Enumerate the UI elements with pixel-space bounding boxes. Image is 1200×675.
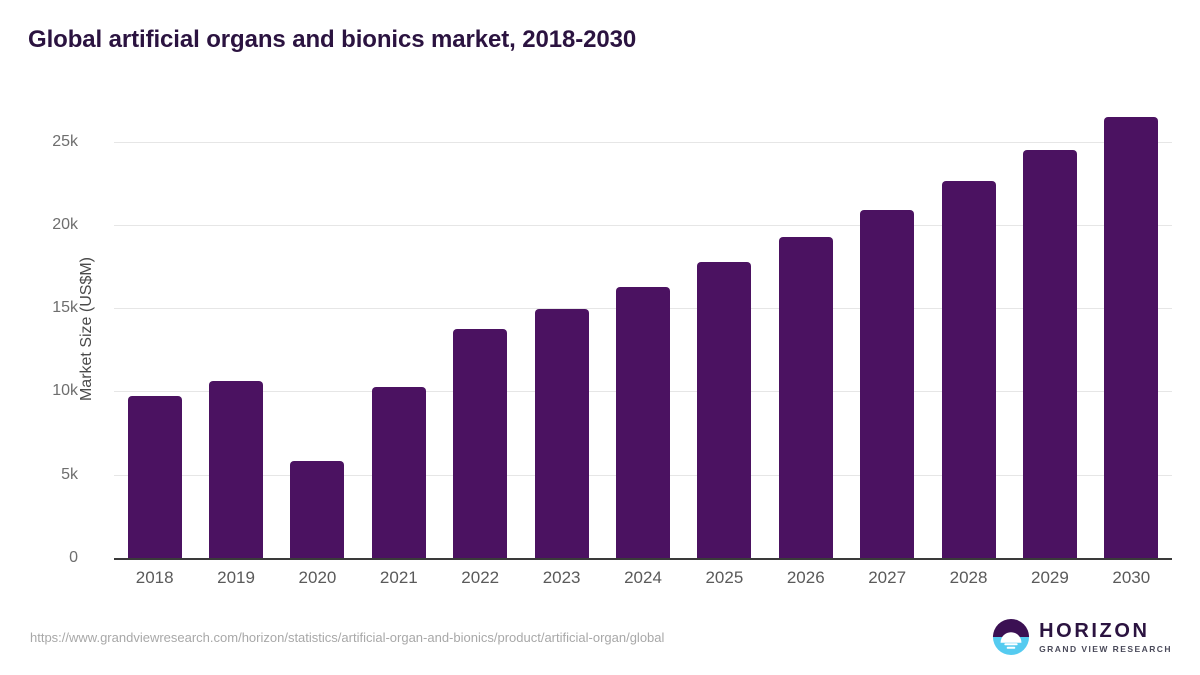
chart-plot-wrapper: Market Size (US$M) 05k10k15k20k25k 20182… bbox=[0, 0, 1200, 675]
bar-slot bbox=[765, 100, 846, 558]
bar-slot bbox=[114, 100, 195, 558]
y-axis-tick-label: 25k bbox=[0, 133, 78, 151]
y-axis-title: Market Size (US$M) bbox=[78, 257, 96, 401]
source-url[interactable]: https://www.grandviewresearch.com/horizo… bbox=[30, 630, 664, 645]
bar-2025[interactable] bbox=[697, 262, 751, 558]
bar-slot bbox=[521, 100, 602, 558]
bar-slot bbox=[684, 100, 765, 558]
bar-2020[interactable] bbox=[290, 461, 344, 558]
bar-2018[interactable] bbox=[128, 396, 182, 558]
bar-slot bbox=[602, 100, 683, 558]
y-axis-tick-label: 10k bbox=[0, 382, 78, 400]
horizon-sun-icon bbox=[992, 618, 1030, 656]
bar-2027[interactable] bbox=[860, 210, 914, 558]
bar-2019[interactable] bbox=[209, 381, 263, 558]
bar-slot bbox=[1091, 100, 1172, 558]
bar-slot bbox=[358, 100, 439, 558]
bar-slot bbox=[277, 100, 358, 558]
horizon-logo[interactable]: HORIZON GRAND VIEW RESEARCH bbox=[992, 618, 1172, 656]
x-axis-line bbox=[114, 558, 1172, 560]
y-axis-tick-label: 5k bbox=[0, 466, 78, 484]
logo-tagline: GRAND VIEW RESEARCH bbox=[1039, 645, 1172, 654]
bar-2029[interactable] bbox=[1023, 150, 1077, 558]
y-axis-tick-label: 0 bbox=[0, 549, 78, 567]
logo-name: HORIZON bbox=[1039, 621, 1172, 641]
bar-slot bbox=[1009, 100, 1090, 558]
bar-2026[interactable] bbox=[779, 237, 833, 558]
bar-slot bbox=[846, 100, 927, 558]
bar-2028[interactable] bbox=[942, 181, 996, 558]
x-axis-tick-label: 2030 bbox=[1071, 568, 1191, 588]
plot-area: Market Size (US$M) 05k10k15k20k25k 20182… bbox=[114, 100, 1172, 558]
bar-series bbox=[114, 100, 1172, 558]
chart-card: Global artificial organs and bionics mar… bbox=[0, 0, 1200, 675]
bar-slot bbox=[440, 100, 521, 558]
bar-2030[interactable] bbox=[1104, 117, 1158, 558]
bar-2023[interactable] bbox=[535, 309, 589, 558]
bar-2024[interactable] bbox=[616, 287, 670, 558]
bar-2021[interactable] bbox=[372, 387, 426, 558]
y-axis-tick-label: 20k bbox=[0, 216, 78, 234]
bar-2022[interactable] bbox=[453, 329, 507, 558]
bar-slot bbox=[928, 100, 1009, 558]
y-axis-tick-label: 15k bbox=[0, 299, 78, 317]
bar-slot bbox=[195, 100, 276, 558]
logo-wordmark: HORIZON GRAND VIEW RESEARCH bbox=[1039, 621, 1172, 654]
